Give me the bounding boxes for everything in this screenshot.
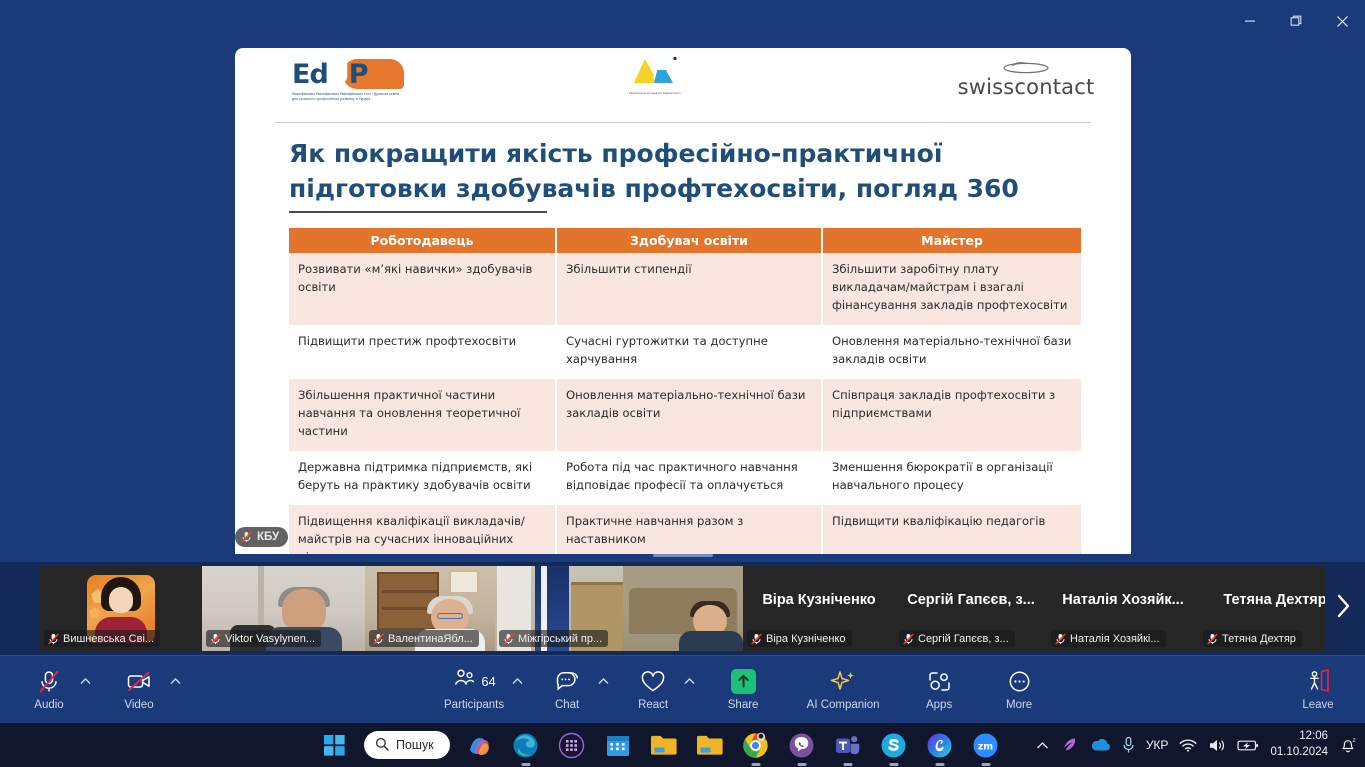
participants-button[interactable]: 64 Participants	[440, 659, 508, 721]
edup-logo: EdUP Кваліфіковані Кваліфіковані Кваліфі…	[292, 61, 404, 102]
shared-slide: EdUP Кваліфіковані Кваліфіковані Кваліфі…	[235, 48, 1131, 554]
search-placeholder: Пошук	[396, 738, 434, 752]
table-header-student: Здобувач освіти	[556, 228, 822, 253]
share-label: Share	[728, 699, 759, 711]
participant-tile[interactable]: Віра Кузніченко Віра Кузніченко	[743, 566, 895, 651]
audio-label: Audio	[34, 699, 63, 711]
audio-button[interactable]: Audio	[22, 659, 76, 721]
apps-label: Apps	[926, 699, 952, 711]
wifi-icon[interactable]	[1179, 738, 1197, 752]
canva-icon[interactable]	[924, 729, 956, 761]
leave-label: Leave	[1302, 699, 1333, 711]
calendar-icon[interactable]	[602, 729, 634, 761]
windows-taskbar: Пошук	[0, 723, 1365, 767]
heart-icon	[640, 668, 666, 694]
participant-name: Viktor Vasylynen...	[225, 633, 315, 645]
notifications-icon[interactable]: z	[1339, 736, 1357, 754]
table-row: Розвивати «м’які навички» здобувачів осв…	[289, 253, 1081, 325]
zoom-meeting-window: EdUP Кваліфіковані Кваліфіковані Кваліфі…	[0, 0, 1365, 767]
edup-logo-tagline: Кваліфіковані Кваліфіковані Кваліфікован…	[292, 92, 404, 102]
slide-divider	[275, 122, 1091, 123]
clock-time: 12:06	[1270, 729, 1328, 745]
window-title-bar	[0, 0, 1365, 42]
swisscontact-wordmark: swisscontact	[946, 77, 1106, 98]
mic-muted-icon	[241, 531, 252, 543]
chevron-right-icon	[1335, 593, 1352, 624]
table-cell: Робота під час практичного навчання відп…	[556, 451, 822, 505]
audio-options-caret[interactable]	[76, 659, 94, 721]
chat-icon	[555, 668, 579, 694]
participant-tile[interactable]: Вишневська Cві...	[40, 566, 202, 651]
mic-muted-icon	[751, 633, 762, 645]
slide-title-underline	[289, 211, 547, 213]
leave-icon	[1305, 668, 1331, 694]
svg-text:z: z	[1353, 737, 1356, 744]
table-cell: Збільшити стипендії	[556, 253, 822, 325]
presenter-name-text: КБУ	[257, 531, 279, 543]
table-row: Збільшення практичної частини навчання т…	[289, 379, 1081, 451]
slide-logo-header: EdUP Кваліфіковані Кваліфіковані Кваліфі…	[235, 48, 1131, 118]
chat-options-caret[interactable]	[594, 659, 612, 721]
participant-name-badge: Viktor Vasylynen...	[206, 630, 321, 647]
mic-muted-icon	[503, 633, 514, 645]
table-cell: Збільшення практичної частини навчання т…	[289, 379, 556, 451]
participant-name: Наталія Хозяйкі...	[1070, 633, 1160, 645]
participant-filmstrip: Вишневська Cві... Viktor Vasyly	[0, 562, 1365, 655]
slide-table: Роботодавець Здобувач освіти Майстер Роз…	[289, 228, 1081, 554]
participant-display-name: Тетяна Дехтяр	[1223, 592, 1325, 608]
table-row: Підвищення кваліфікації викладачів/майст…	[289, 505, 1081, 554]
system-tray: УКР	[1036, 729, 1357, 760]
mic-muted-icon	[1055, 633, 1066, 645]
table-cell: Оновлення матеріально-технічної бази зак…	[822, 325, 1081, 379]
stage-scroll-indicator[interactable]	[653, 554, 713, 557]
table-cell: Співпраця закладів профтехосвіти з підпр…	[822, 379, 1081, 451]
participants-count: 64	[481, 674, 495, 689]
react-button[interactable]: React	[626, 659, 680, 721]
microphone-icon[interactable]	[1122, 736, 1135, 754]
naa-logo-tagline: Українська Асоціація Маркетингу	[622, 91, 688, 95]
restore-button[interactable]	[1273, 0, 1319, 42]
participant-name-badge: Сергій Гапєєв, з...	[899, 630, 1015, 647]
video-options-caret[interactable]	[166, 659, 184, 721]
table-cell: Підвищити престиж профтехосвіти	[289, 325, 556, 379]
shared-screen-stage: EdUP Кваліфіковані Кваліфіковані Кваліфі…	[0, 42, 1365, 558]
mic-muted-icon	[1207, 633, 1218, 645]
language-indicator[interactable]: УКР	[1146, 738, 1169, 752]
table-cell: Оновлення матеріально-технічної бази зак…	[556, 379, 822, 451]
search-input[interactable]: Пошук	[364, 731, 450, 759]
participant-tile[interactable]: ВалентинаЯбл...	[365, 566, 495, 651]
table-row: Державна підтримка підприємств, які беру…	[289, 451, 1081, 505]
volume-icon[interactable]	[1208, 738, 1226, 753]
swisscontact-logo: swisscontact	[946, 60, 1106, 98]
minimize-button[interactable]	[1227, 0, 1273, 42]
participant-name: Вишневська Cві...	[63, 633, 154, 645]
participant-name: Міжгірський пр...	[518, 633, 602, 645]
mic-muted-icon	[373, 633, 384, 645]
show-hidden-icons-button[interactable]	[1036, 741, 1049, 750]
participants-icon	[452, 668, 477, 695]
file-explorer-icon[interactable]	[648, 729, 680, 761]
mic-muted-icon	[210, 633, 221, 645]
table-cell: Зменшення бюрократії в організації навча…	[822, 451, 1081, 505]
participant-name: Сергій Гапєєв, з...	[918, 633, 1009, 645]
zoom-meeting-toolbar: Audio Video	[0, 655, 1365, 723]
microphone-muted-icon	[37, 668, 61, 694]
copilot-icon[interactable]	[464, 729, 496, 761]
chat-button[interactable]: Chat	[540, 659, 594, 721]
zoom-icon[interactable]: zm	[970, 729, 1002, 761]
ai-companion-label: AI Companion	[807, 699, 880, 711]
edge-icon[interactable]	[510, 729, 542, 761]
clock[interactable]: 12:06 01.10.2024	[1270, 729, 1328, 760]
react-label: React	[638, 699, 668, 711]
search-icon	[375, 737, 389, 754]
participant-tile[interactable]: Сергій Гапєєв, з... Сергій Гапєєв, з...	[895, 566, 1047, 651]
more-button[interactable]: More	[992, 659, 1046, 721]
participant-tile[interactable]: Наталія Хозяйк... Наталія Хозяйкі...	[1047, 566, 1199, 651]
participant-display-name: Наталія Хозяйк...	[1062, 592, 1184, 608]
apps-button[interactable]: Apps	[912, 659, 966, 721]
participant-tile[interactable]	[623, 566, 743, 651]
react-options-caret[interactable]	[680, 659, 698, 721]
table-cell: Підвищити кваліфікацію педагогів	[822, 505, 1081, 554]
participant-name-badge: Тетяна Дехтяр	[1203, 630, 1302, 647]
participant-tile[interactable]: Тетяна Дехтяр Тетяна Дехтяр	[1199, 566, 1325, 651]
participant-name-badge: Вишневська Cві...	[44, 630, 160, 647]
participant-name: Тетяна Дехтяр	[1222, 633, 1296, 645]
participant-name: ВалентинаЯбл...	[388, 633, 473, 645]
clock-date: 01.10.2024	[1270, 745, 1328, 761]
video-label: Video	[124, 699, 153, 711]
mic-muted-icon	[48, 633, 59, 645]
camera-muted-icon	[126, 668, 152, 694]
table-cell: Збільшити заробітну плату викладачам/май…	[822, 253, 1081, 325]
naa-logo: Українська Асоціація Маркетингу	[622, 56, 688, 95]
app-grid-icon[interactable]	[556, 729, 588, 761]
table-header-row: Роботодавець Здобувач освіти Майстер	[289, 228, 1081, 253]
table-cell: Підвищення кваліфікації викладачів/майст…	[289, 505, 556, 554]
participant-display-name: Віра Кузніченко	[762, 592, 875, 608]
mic-muted-icon	[903, 633, 914, 645]
svg-text:zm: zm	[978, 741, 994, 752]
participants-options-caret[interactable]	[508, 659, 526, 721]
participants-label: Participants	[444, 699, 504, 711]
chat-label: Chat	[555, 699, 579, 711]
share-screen-icon	[731, 669, 756, 694]
chrome-icon[interactable]	[740, 729, 772, 761]
table-header-master: Майстер	[822, 228, 1081, 253]
sparkle-icon	[830, 668, 856, 694]
table-cell: Практичне навчання разом з наставником	[556, 505, 822, 554]
explorer-folder-icon[interactable]	[694, 729, 726, 761]
share-screen-button[interactable]: Share	[716, 659, 770, 721]
feather-icon[interactable]	[1060, 736, 1078, 754]
close-button[interactable]	[1319, 0, 1365, 42]
table-cell: Розвивати «м’які навички» здобувачів осв…	[289, 253, 556, 325]
video-button[interactable]: Video	[112, 659, 166, 721]
apps-icon	[927, 668, 952, 694]
battery-icon[interactable]	[1237, 739, 1259, 752]
participant-tile[interactable]: Міжгірський пр...	[495, 566, 623, 651]
onedrive-icon[interactable]	[1089, 738, 1111, 752]
more-icon	[1007, 668, 1032, 694]
presenter-name-badge: КБУ	[235, 527, 288, 547]
participant-tile[interactable]: Viktor Vasylynen...	[202, 566, 365, 651]
table-cell: Державна підтримка підприємств, які беру…	[289, 451, 556, 505]
teams-icon[interactable]	[832, 729, 864, 761]
table-row: Підвищити престиж профтехосвіти Сучасні …	[289, 325, 1081, 379]
table-header-employer: Роботодавець	[289, 228, 556, 253]
participant-name-badge: Міжгірський пр...	[499, 630, 608, 647]
participant-name-badge: Наталія Хозяйкі...	[1051, 630, 1166, 647]
table-cell: Сучасні гуртожитки та доступне харчуванн…	[556, 325, 822, 379]
filmstrip-next-button[interactable]	[1325, 566, 1361, 651]
more-label: More	[1006, 699, 1032, 711]
participant-name-badge: ВалентинаЯбл...	[369, 630, 479, 647]
slide-title: Як покращити якість професійно-практично…	[289, 137, 1079, 206]
ai-companion-button[interactable]: AI Companion	[800, 659, 886, 721]
viber-icon[interactable]	[786, 729, 818, 761]
participant-name: Віра Кузніченко	[766, 633, 846, 645]
participant-name-badge: Віра Кузніченко	[747, 630, 852, 647]
leave-button[interactable]: Leave	[1291, 659, 1345, 721]
skype-icon[interactable]	[878, 729, 910, 761]
start-button[interactable]	[318, 729, 350, 761]
participant-display-name: Сергій Гапєєв, з...	[907, 592, 1035, 608]
